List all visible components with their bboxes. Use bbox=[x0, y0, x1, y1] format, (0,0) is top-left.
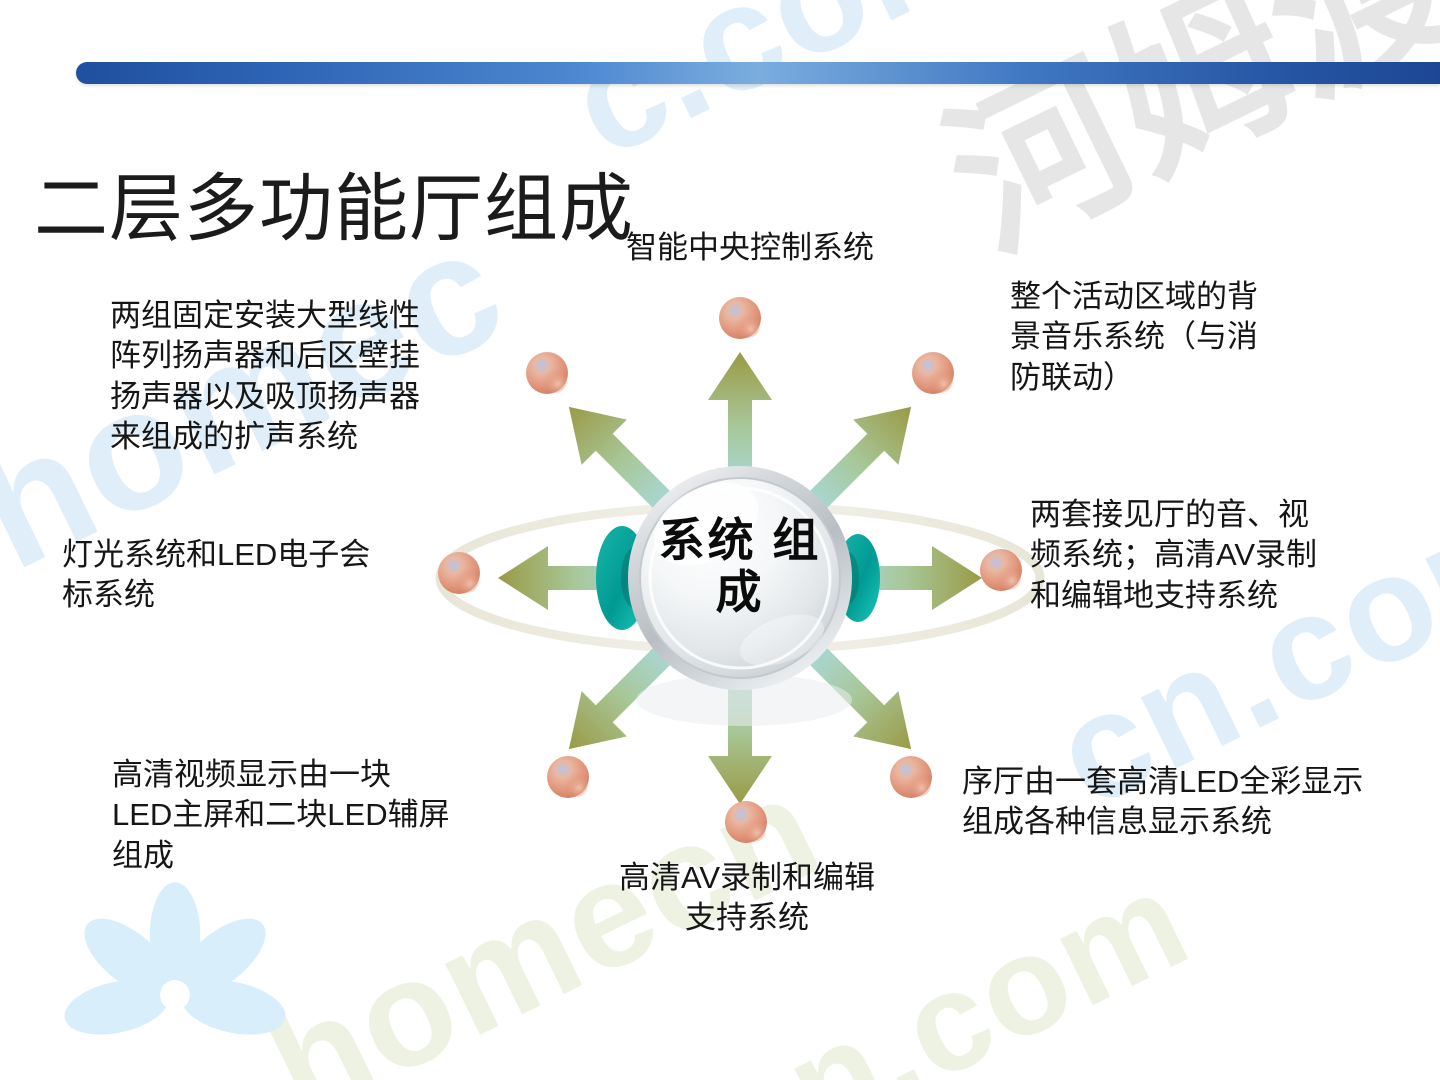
node-label-top: 智能中央控制系统 bbox=[560, 228, 940, 268]
sphere-node-icon[interactable] bbox=[980, 549, 1022, 591]
node-label-top-left: 两组固定安装大型线性 阵列扬声器和后区壁挂 扬声器以及吸顶扬声器 来组成的扩声系… bbox=[110, 296, 510, 457]
sphere-node-icon[interactable] bbox=[725, 801, 767, 843]
node-label-bottom-left: 高清视频显示由一块 LED主屏和二块LED辅屏 组成 bbox=[112, 755, 532, 876]
sphere-node-icon[interactable] bbox=[526, 352, 568, 394]
slide-canvas: homec homecn cn.com cn.com c.com 河姆渡 二层多… bbox=[0, 0, 1440, 1080]
node-label-bottom: 高清AV录制和编辑 支持系统 bbox=[572, 858, 922, 939]
node-label-right: 两套接见厅的音、视 频系统；高清AV录制 和编辑地支持系统 bbox=[1030, 495, 1410, 616]
node-label-top-right: 整个活动区域的背 景音乐系统（与消 防联动） bbox=[1010, 277, 1340, 398]
sphere-node-icon[interactable] bbox=[719, 297, 761, 339]
sphere-node-icon[interactable] bbox=[912, 352, 954, 394]
hub-sphere bbox=[628, 466, 852, 726]
sphere-node-icon[interactable] bbox=[547, 756, 589, 798]
sphere-node-icon[interactable] bbox=[890, 756, 932, 798]
node-label-bottom-right: 序厅由一套高清LED全彩显示 组成各种信息显示系统 bbox=[962, 762, 1432, 843]
node-label-left: 灯光系统和LED电子会 标系统 bbox=[62, 535, 462, 616]
